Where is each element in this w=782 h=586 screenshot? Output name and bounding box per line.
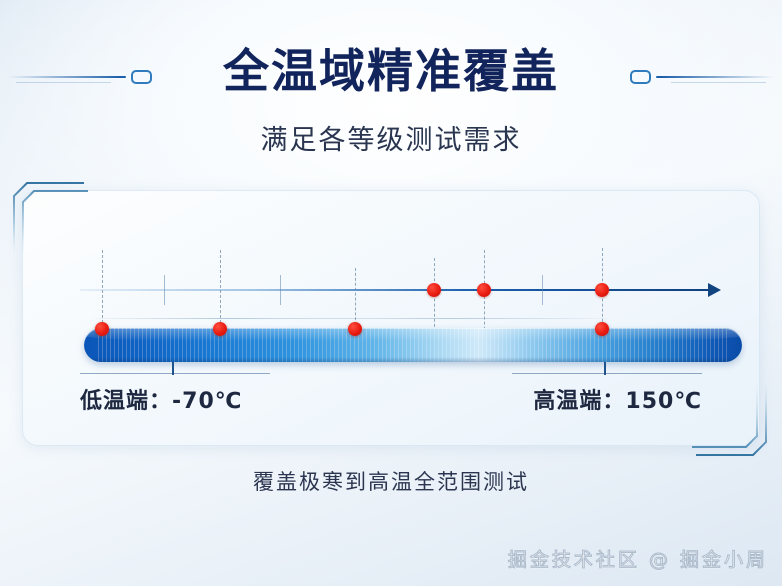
axis-arrow-icon bbox=[708, 283, 721, 297]
bar-marker-dot bbox=[213, 322, 227, 336]
title-decoration-right bbox=[625, 71, 774, 83]
bar-gloss-highlight bbox=[84, 328, 742, 341]
title-decoration-left bbox=[8, 71, 157, 83]
axis-marker-dot bbox=[595, 283, 609, 297]
bar-marker-dot bbox=[348, 322, 362, 336]
decoration-hairline-right bbox=[671, 82, 766, 83]
bracket-vertical bbox=[172, 362, 174, 375]
temperature-axis bbox=[80, 289, 710, 291]
decoration-pill-right-icon bbox=[630, 70, 651, 84]
bottom-caption: 覆盖极寒到高温全范围测试 bbox=[0, 466, 782, 496]
axis-marker-dot bbox=[477, 283, 491, 297]
decoration-line-left bbox=[8, 76, 126, 78]
temperature-range-card: 低温端：-70℃ 高温端：150℃ bbox=[22, 190, 760, 446]
slide-root: 全温域精准覆盖 满足各等级测试需求 bbox=[0, 0, 782, 586]
page-subtitle: 满足各等级测试需求 bbox=[0, 118, 782, 157]
axis-tick bbox=[542, 275, 543, 305]
watermark: 掘金技术社区 @ 掘金小周 bbox=[508, 545, 768, 572]
temperature-chart: 低温端：-70℃ 高温端：150℃ bbox=[22, 190, 760, 446]
high-temperature-label: 高温端：150℃ bbox=[533, 383, 702, 415]
connector-hairline bbox=[290, 318, 610, 319]
bar-bracket-left bbox=[80, 362, 270, 376]
decoration-hairline-left bbox=[16, 82, 111, 83]
bar-marker-dot bbox=[595, 322, 609, 336]
bracket-vertical bbox=[604, 362, 606, 375]
temperature-gradient-bar[interactable] bbox=[84, 328, 742, 362]
axis-line bbox=[80, 289, 710, 291]
axis-marker-dot bbox=[427, 283, 441, 297]
bar-marker-dot bbox=[95, 322, 109, 336]
low-temperature-label: 低温端：-70℃ bbox=[80, 383, 242, 415]
page-title: 全温域精准覆盖 bbox=[223, 48, 559, 94]
bracket-horizontal bbox=[80, 373, 270, 374]
header: 全温域精准覆盖 满足各等级测试需求 bbox=[0, 40, 782, 157]
decoration-pill-left-icon bbox=[131, 70, 152, 84]
title-row: 全温域精准覆盖 bbox=[0, 40, 782, 102]
decoration-line-right bbox=[656, 76, 774, 78]
bracket-horizontal bbox=[512, 373, 702, 374]
bar-bracket-right bbox=[512, 362, 702, 376]
axis-tick bbox=[164, 275, 165, 305]
axis-tick bbox=[280, 275, 281, 305]
